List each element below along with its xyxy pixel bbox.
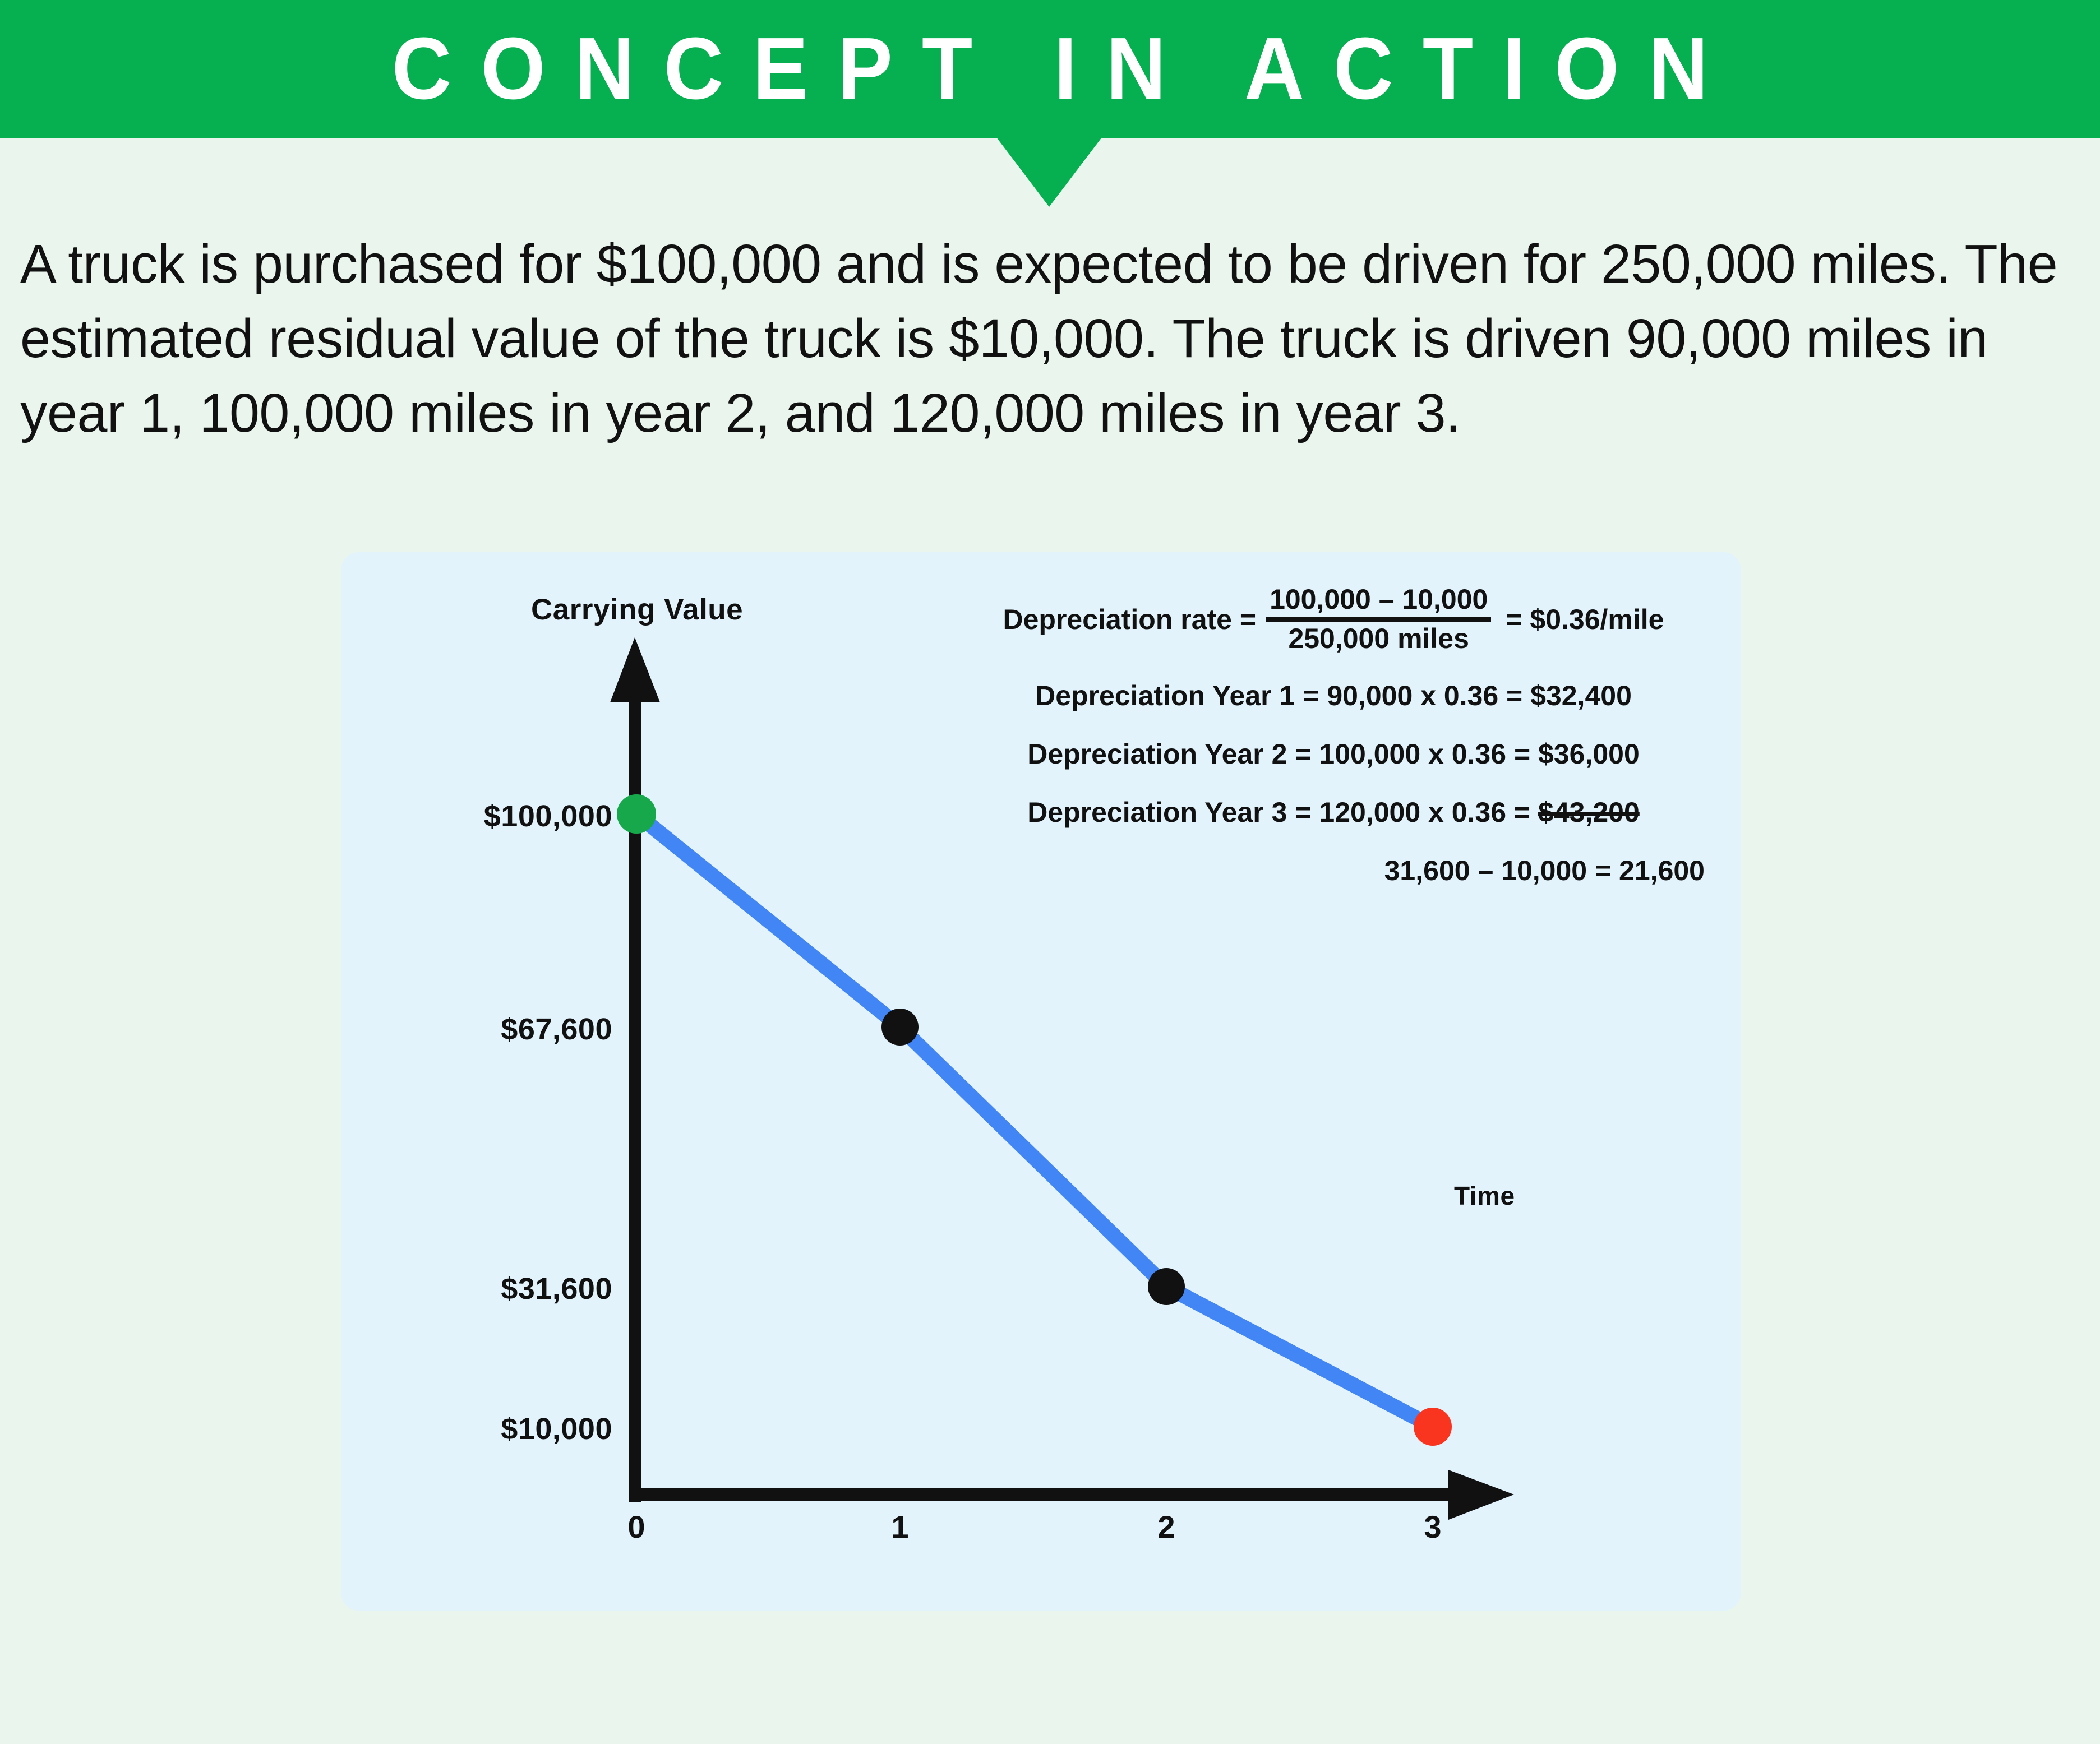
x-tick-label-3: 3 xyxy=(1424,1509,1441,1545)
y-tick-label-10000: $10,000 xyxy=(501,1412,612,1446)
depreciation-year3-prefix: Depreciation Year 3 = 120,000 x 0.36 = xyxy=(1027,797,1538,828)
depreciation-year2-line: Depreciation Year 2 = 100,000 x 0.36 = $… xyxy=(947,738,1720,770)
depreciation-rate-result: = $0.36/mile xyxy=(1499,603,1664,636)
formula-block: Depreciation rate = 100,000 – 10,000 250… xyxy=(947,585,1720,887)
y-tick-label-67600: $67,600 xyxy=(501,1012,612,1047)
fraction-numerator: 100,000 – 10,000 xyxy=(1266,585,1491,617)
y-axis xyxy=(610,637,660,1502)
data-point-year2[interactable] xyxy=(1148,1268,1185,1305)
header-banner: CONCEPT IN ACTION xyxy=(0,0,2100,138)
x-tick-label-0: 0 xyxy=(627,1509,645,1545)
depreciation-year3-line: Depreciation Year 3 = 120,000 x 0.36 = $… xyxy=(947,796,1720,829)
y-tick-label-31600: $31,600 xyxy=(501,1271,612,1306)
depreciation-rate-formula: Depreciation rate = 100,000 – 10,000 250… xyxy=(947,585,1720,654)
y-tick-label-100000: $100,000 xyxy=(484,799,612,834)
fraction-denominator: 250,000 miles xyxy=(1285,622,1473,654)
y-axis-title: Carrying Value xyxy=(531,593,743,627)
header-pointer-notch xyxy=(996,137,1102,207)
depreciation-rate-fraction: 100,000 – 10,000 250,000 miles xyxy=(1266,585,1491,654)
data-point-year1[interactable] xyxy=(881,1009,919,1046)
carrying-value-line xyxy=(636,814,1433,1427)
page-title: CONCEPT IN ACTION xyxy=(363,25,1738,113)
x-axis xyxy=(629,1470,1514,1520)
intro-paragraph: A truck is purchased for $100,000 and is… xyxy=(20,226,2084,450)
residual-adjustment-line: 31,600 – 10,000 = 21,600 xyxy=(947,854,1720,887)
data-point-year3[interactable] xyxy=(1414,1408,1452,1446)
x-tick-label-2: 2 xyxy=(1157,1509,1175,1545)
depreciation-rate-label: Depreciation rate = xyxy=(1003,603,1259,636)
data-point-year0[interactable] xyxy=(617,794,656,834)
x-tick-label-1: 1 xyxy=(891,1509,908,1545)
depreciation-year3-struck-value: $43,200 xyxy=(1538,797,1640,828)
chart-card: Carrying Value Time $100,000 $67,600 $31… xyxy=(341,552,1741,1611)
depreciation-year1-line: Depreciation Year 1 = 90,000 x 0.36 = $3… xyxy=(947,679,1720,712)
fraction-bar xyxy=(1266,617,1491,622)
x-axis-title: Time xyxy=(1454,1181,1515,1211)
